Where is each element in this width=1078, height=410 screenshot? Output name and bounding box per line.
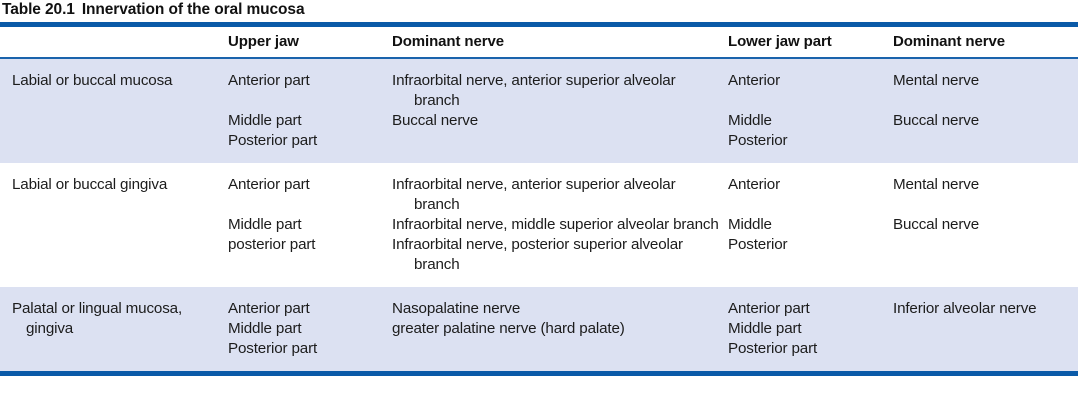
lower-nerve-value: Mental nerve (893, 72, 987, 89)
cell-lower-jaw: Middle (728, 215, 893, 235)
region-label: Labial or buccal gingiva (0, 175, 228, 195)
cell-upper-jaw: Middle part (228, 319, 392, 339)
cell-lower-jaw: Anterior part (728, 287, 893, 319)
cell-region: Labial or buccal mucosa (0, 59, 228, 163)
upper-nerve-value: Nasopalatine nerve (392, 300, 528, 317)
upper-nerve-value: Infraorbital nerve, middle superior alve… (392, 215, 728, 235)
lower-jaw-value: Anterior (728, 72, 788, 89)
cell-lower-jaw: Anterior (728, 59, 893, 111)
cell-lower-nerve (893, 235, 1078, 287)
cell-upper-nerve (392, 339, 728, 371)
cell-lower-jaw: Posterior part (728, 339, 893, 371)
lower-nerve-value (893, 340, 901, 357)
upper-jaw-value: posterior part (228, 236, 323, 253)
table-caption-title: Innervation of the oral mucosa (82, 1, 305, 18)
cell-upper-nerve (392, 131, 728, 163)
cell-lower-nerve: Buccal nerve (893, 111, 1078, 131)
cell-upper-nerve: Buccal nerve (392, 111, 728, 131)
lower-nerve-value (893, 236, 901, 253)
upper-jaw-value: Posterior part (228, 340, 325, 357)
upper-jaw-value: Middle part (228, 216, 309, 233)
cell-lower-nerve (893, 339, 1078, 371)
cell-lower-jaw: Posterior (728, 235, 893, 287)
cell-upper-nerve: greater palatine nerve (hard palate) (392, 319, 728, 339)
upper-nerve-value: Buccal nerve (392, 112, 486, 129)
upper-jaw-value: Middle part (228, 112, 309, 129)
cell-upper-nerve: Infraorbital nerve, posterior superior a… (392, 235, 728, 287)
region-label: Palatal or lingual mucosa, gingiva (0, 299, 228, 339)
lower-nerve-value (893, 320, 901, 337)
table-header: Upper jaw Dominant nerve Lower jaw part … (0, 27, 1078, 57)
column-header-upper-dominant-nerve: Dominant nerve (392, 27, 728, 57)
upper-nerve-value: Infraorbital nerve, anterior superior al… (392, 71, 728, 111)
table-caption: Table 20.1Innervation of the oral mucosa (0, 0, 1078, 22)
upper-nerve-value (392, 132, 400, 149)
cell-lower-nerve: Buccal nerve (893, 215, 1078, 235)
lower-jaw-value: Middle (728, 112, 780, 129)
lower-jaw-value: Anterior (728, 176, 788, 193)
column-header-upper-jaw: Upper jaw (228, 27, 392, 57)
cell-lower-nerve (893, 131, 1078, 163)
cell-region: Palatal or lingual mucosa, gingiva (0, 287, 228, 371)
table-bottom-rule (0, 371, 1078, 376)
table-20-1: Table 20.1Innervation of the oral mucosa… (0, 0, 1078, 376)
cell-upper-jaw: Middle part (228, 111, 392, 131)
cell-upper-jaw: Middle part (228, 215, 392, 235)
cell-lower-nerve (893, 319, 1078, 339)
cell-upper-jaw: Anterior part (228, 287, 392, 319)
table-header-row: Upper jaw Dominant nerve Lower jaw part … (0, 27, 1078, 57)
lower-jaw-value: Middle (728, 216, 780, 233)
cell-lower-jaw: Posterior (728, 131, 893, 163)
cell-lower-nerve: Inferior alveolar nerve (893, 287, 1078, 319)
innervation-table: Upper jaw Dominant nerve Lower jaw part … (0, 27, 1078, 57)
lower-jaw-value: Posterior (728, 236, 795, 253)
cell-lower-nerve: Mental nerve (893, 59, 1078, 111)
innervation-table-body: Labial or buccal mucosa Anterior part In… (0, 59, 1078, 371)
lower-nerve-value: Buccal nerve (893, 112, 987, 129)
lower-nerve-value: Buccal nerve (893, 216, 987, 233)
table-row: Palatal or lingual mucosa, gingiva Anter… (0, 287, 1078, 319)
cell-upper-jaw: Anterior part (228, 163, 392, 215)
cell-upper-jaw: Posterior part (228, 131, 392, 163)
column-header-region (0, 27, 228, 57)
region-label: Labial or buccal mucosa (0, 71, 228, 91)
upper-jaw-value: Middle part (228, 320, 309, 337)
upper-nerve-value: greater palatine nerve (hard palate) (392, 320, 633, 337)
upper-nerve-value (392, 340, 400, 357)
lower-jaw-value: Posterior part (728, 340, 825, 357)
cell-lower-jaw: Middle part (728, 319, 893, 339)
cell-upper-jaw: Anterior part (228, 59, 392, 111)
upper-nerve-value: Infraorbital nerve, anterior superior al… (392, 175, 728, 215)
column-header-lower-jaw-part: Lower jaw part (728, 27, 893, 57)
cell-upper-nerve: Infraorbital nerve, anterior superior al… (392, 59, 728, 111)
cell-upper-nerve: Infraorbital nerve, anterior superior al… (392, 163, 728, 215)
upper-jaw-value: Anterior part (228, 176, 318, 193)
cell-upper-jaw: posterior part (228, 235, 392, 287)
column-header-lower-dominant-nerve: Dominant nerve (893, 27, 1078, 57)
lower-jaw-value: Anterior part (728, 300, 818, 317)
table-row: Labial or buccal mucosa Anterior part In… (0, 59, 1078, 111)
upper-jaw-value: Anterior part (228, 72, 318, 89)
lower-jaw-value: Middle part (728, 320, 809, 337)
cell-lower-jaw: Middle (728, 111, 893, 131)
cell-upper-nerve: Infraorbital nerve, middle superior alve… (392, 215, 728, 235)
table-row: Labial or buccal gingiva Anterior part I… (0, 163, 1078, 215)
lower-jaw-value: Posterior (728, 132, 795, 149)
upper-jaw-value: Posterior part (228, 132, 325, 149)
lower-nerve-value: Mental nerve (893, 176, 987, 193)
cell-lower-jaw: Anterior (728, 163, 893, 215)
table-caption-number: Table 20.1 (2, 1, 75, 18)
lower-nerve-value (893, 132, 901, 149)
cell-upper-jaw: Posterior part (228, 339, 392, 371)
cell-region: Labial or buccal gingiva (0, 163, 228, 287)
upper-jaw-value: Anterior part (228, 300, 318, 317)
lower-nerve-value: Inferior alveolar nerve (893, 300, 1044, 317)
cell-lower-nerve: Mental nerve (893, 163, 1078, 215)
upper-nerve-value: Infraorbital nerve, posterior superior a… (392, 235, 728, 275)
cell-upper-nerve: Nasopalatine nerve (392, 287, 728, 319)
